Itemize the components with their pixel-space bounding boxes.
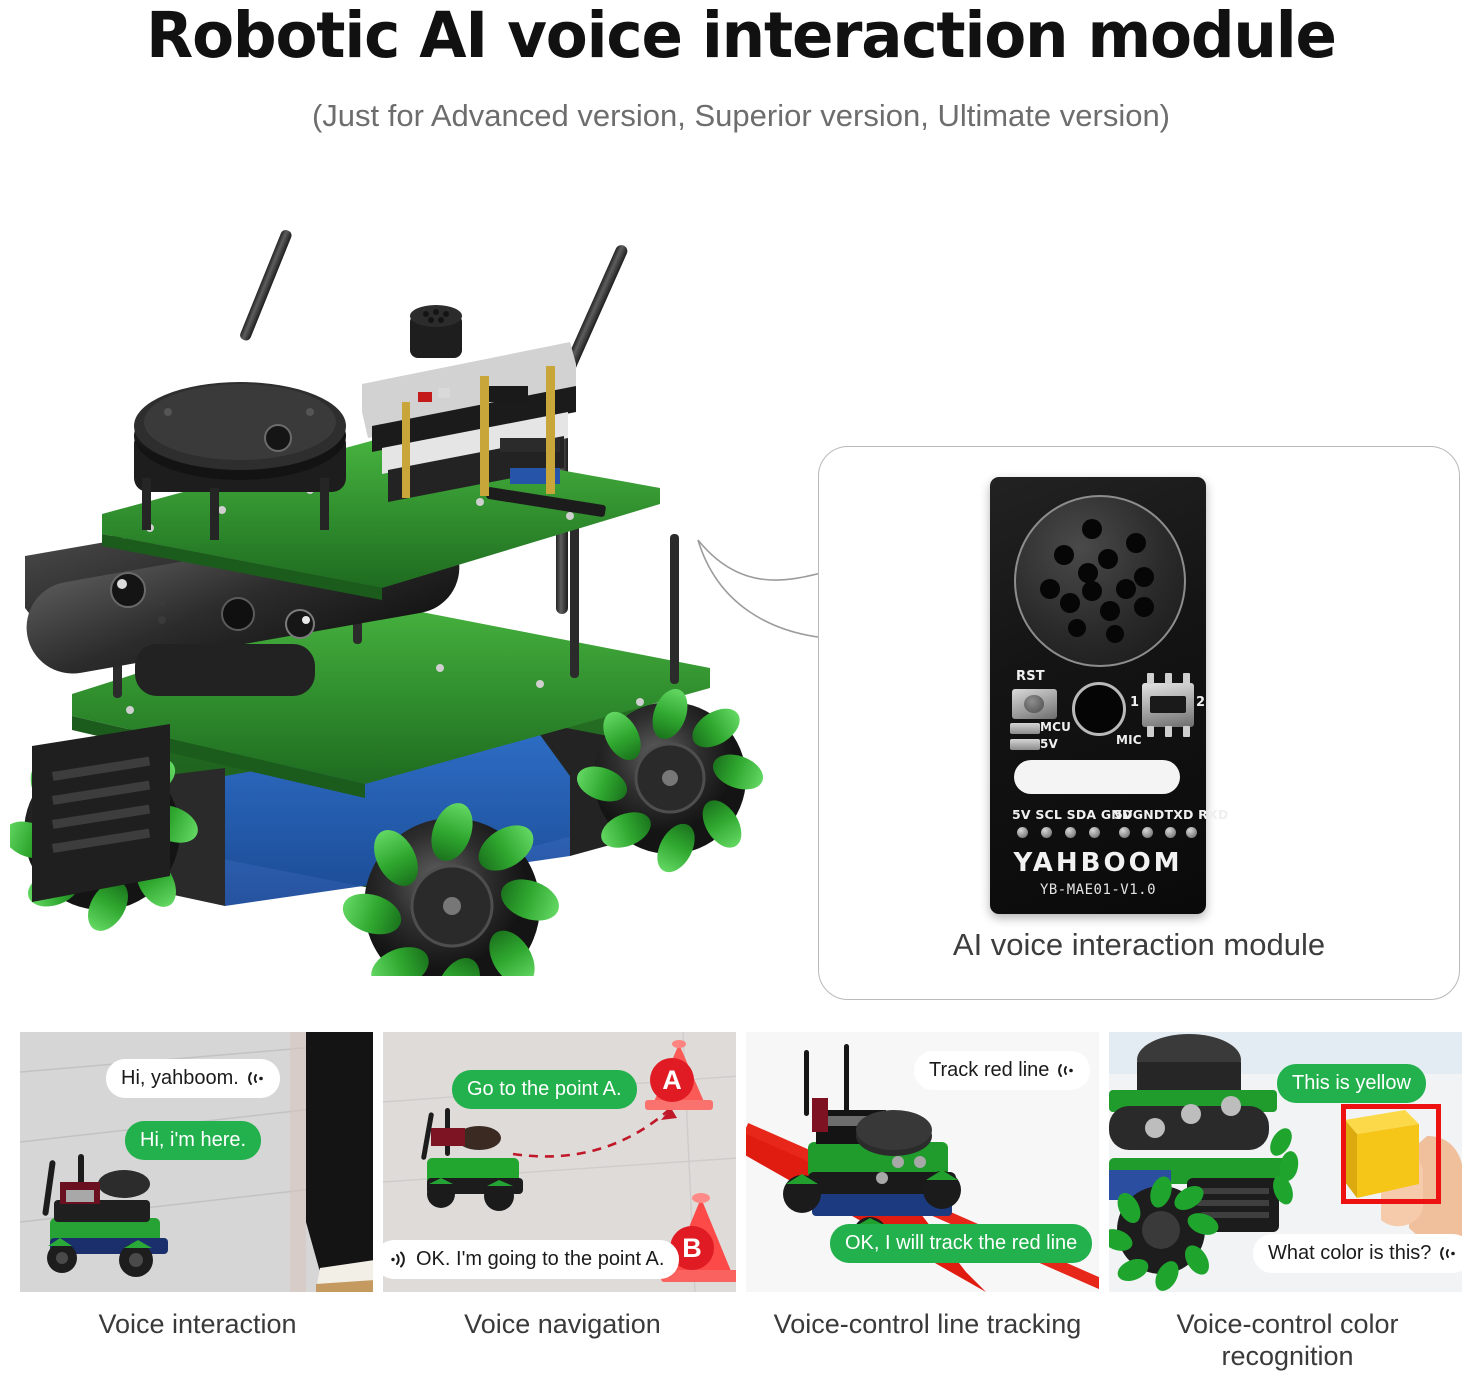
jumper-5v[interactable]	[1010, 739, 1040, 750]
callout-label: AI voice interaction module	[819, 927, 1459, 963]
speech-bubble-user: What color is this?	[1253, 1234, 1462, 1273]
page-title: Robotic AI voice interaction module	[22, 4, 1460, 68]
speaker-icon	[390, 1251, 407, 1268]
speaker-icon	[1440, 1245, 1457, 1262]
silk-label-dip-2: 2	[1196, 695, 1205, 710]
part-number-label: YB-MAE01-V1.0	[990, 882, 1206, 898]
bubble-text: Hi, i'm here.	[140, 1129, 246, 1152]
caption-color-recognition: Voice-control color recognition	[1110, 1308, 1465, 1373]
feature-thumbnail-row: Hi, yahboom. Hi, i'm here.	[20, 1032, 1462, 1292]
thumbnail-color-recognition[interactable]: This is yellow What color is this?	[1109, 1032, 1462, 1292]
caption-line-tracking: Voice-control line tracking	[750, 1308, 1105, 1340]
silk-label-pins-right: 5VGNDTXD RXD	[1114, 807, 1228, 822]
speech-bubble-user: Track red line	[914, 1051, 1090, 1090]
speaker-icon	[248, 1070, 265, 1087]
bubble-text: Hi, yahboom.	[121, 1067, 239, 1090]
callout-pointer-tail	[694, 526, 829, 651]
silk-label-mic: MIC	[1116, 733, 1142, 747]
silk-label-5v: 5V	[1040, 737, 1058, 751]
robot-product-image	[10, 216, 800, 976]
jumper-mcu[interactable]	[1010, 723, 1040, 734]
color-detection-box	[1341, 1104, 1441, 1204]
bubble-text: This is yellow	[1292, 1072, 1411, 1095]
page-subtitle: (Just for Advanced version, Superior ver…	[0, 98, 1482, 134]
ai-voice-module-board: RST MCU 5V MIC 1 2 5V SCL SDA GND 5VGNDT…	[990, 477, 1206, 914]
speech-bubble-robot: Hi, i'm here.	[125, 1121, 261, 1160]
speech-bubble-robot: This is yellow	[1277, 1064, 1426, 1103]
thumbnail-voice-interaction[interactable]: Hi, yahboom. Hi, i'm here.	[20, 1032, 373, 1292]
board-slot	[1014, 760, 1180, 794]
microphone-icon	[1072, 682, 1126, 736]
controller-board-stack	[362, 305, 576, 502]
bubble-text: OK, I will track the red line	[845, 1232, 1077, 1255]
thumbnail-line-tracking[interactable]: Track red line OK, I will track the red …	[746, 1032, 1099, 1292]
bubble-text: OK. I'm going to the point A.	[416, 1248, 664, 1271]
reset-button[interactable]	[1012, 689, 1057, 719]
bubble-text: What color is this?	[1268, 1242, 1431, 1265]
caption-voice-interaction: Voice interaction	[20, 1308, 375, 1340]
waypoint-marker-a: A	[650, 1058, 694, 1102]
brand-logo: YAHBOOM	[990, 848, 1206, 878]
speech-bubble-robot: OK, I will track the red line	[830, 1224, 1092, 1263]
front-grille-plate	[32, 724, 170, 902]
silk-label-mcu: MCU	[1040, 720, 1071, 734]
bubble-text: Track red line	[929, 1059, 1049, 1082]
speech-bubble-user: Hi, yahboom.	[106, 1059, 280, 1098]
page-header: Robotic AI voice interaction module (Jus…	[0, 0, 1482, 134]
speaker-grille-icon	[1014, 495, 1186, 667]
speech-bubble-user: Go to the point A.	[452, 1070, 637, 1109]
robot-illustration	[10, 216, 800, 976]
caption-voice-navigation: Voice navigation	[385, 1308, 740, 1340]
thumbnail-voice-navigation[interactable]: A B Go to the point A. OK. I'm going to …	[383, 1032, 736, 1292]
silk-label-rst: RST	[1016, 669, 1045, 684]
hero-section: AI voice interaction module RST MCU 5V M…	[0, 196, 1482, 996]
dip-switch[interactable]	[1142, 683, 1194, 727]
silk-label-dip-1: 1	[1130, 695, 1139, 710]
speech-bubble-robot: OK. I'm going to the point A.	[383, 1240, 679, 1279]
speaker-icon	[1058, 1062, 1075, 1079]
bubble-text: Go to the point A.	[467, 1078, 622, 1101]
